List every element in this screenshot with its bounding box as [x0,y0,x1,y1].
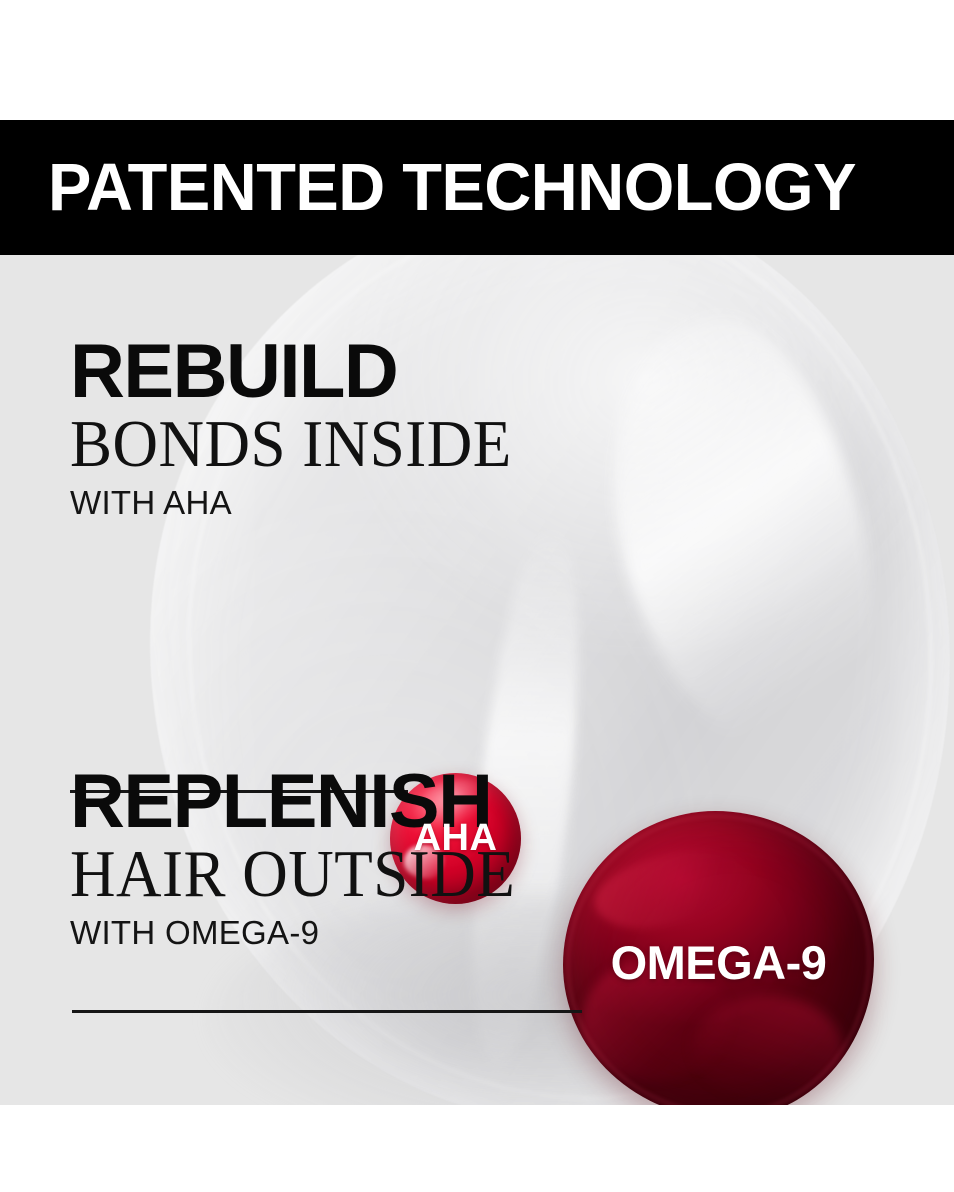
benefit-eyebrow-rebuild: WITH AHA [70,486,512,519]
benefit-eyebrow-replenish: WITH OMEGA-9 [70,916,515,949]
product-stage: REBUILD BONDS INSIDE WITH AHA AHA OMEGA-… [0,255,954,1105]
red-blob-icon: OMEGA-9 [563,811,874,1105]
omega-droplet-label: OMEGA-9 [563,935,874,990]
banner-title: PATENTED TECHNOLOGY [48,154,856,221]
benefit-block-rebuild: REBUILD BONDS INSIDE WITH AHA [70,337,512,519]
benefit-headline-rebuild: REBUILD [70,337,512,407]
patented-technology-banner: PATENTED TECHNOLOGY [0,120,954,255]
bottom-white-margin [0,1105,954,1192]
aha-droplet-label: AHA [414,817,498,860]
patented-technology-infographic: PATENTED TECHNOLOGY REBUILD BONDS INSIDE… [0,0,954,1192]
divider-rule-bottom [72,1010,582,1013]
benefit-subhead-rebuild: BONDS INSIDE [70,411,512,478]
top-white-margin [0,0,954,120]
